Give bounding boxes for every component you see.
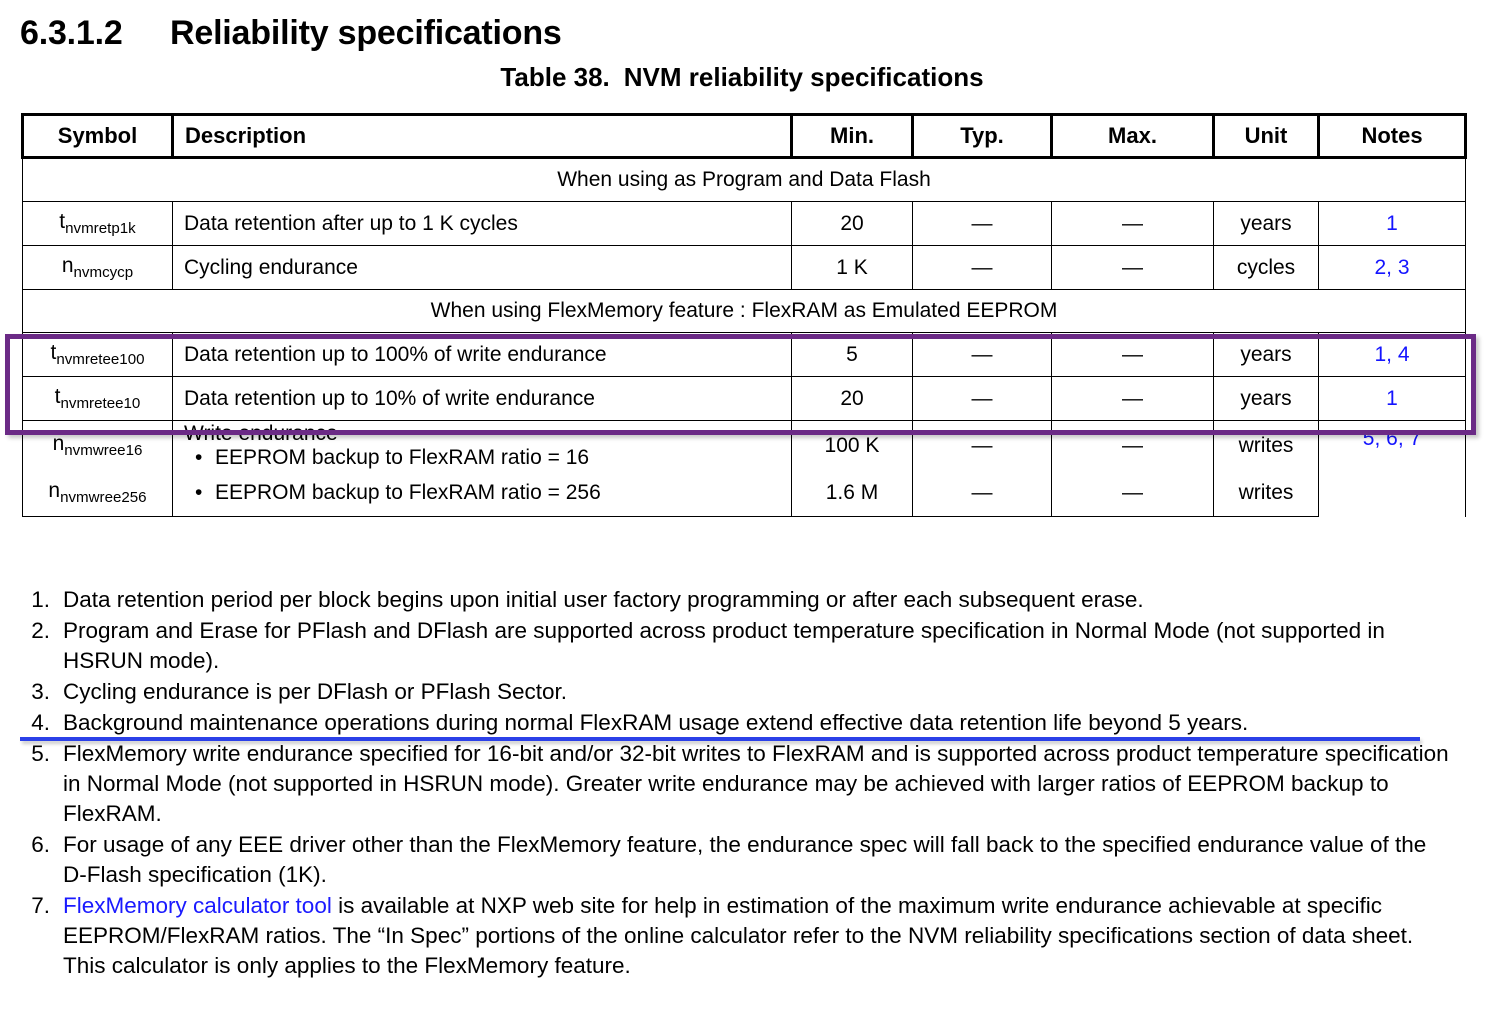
row-min: 20 xyxy=(792,377,913,421)
footnote-text: For usage of any EEE driver other than t… xyxy=(63,832,1426,887)
footnote-number: 2. xyxy=(20,616,50,646)
row-symbol: nnvmcycp xyxy=(23,246,173,290)
row-symbol: nnvmwree16 xyxy=(23,421,173,471)
row-notes[interactable]: 5, 6, 7 xyxy=(1319,421,1466,517)
symbol-subscript: nvmcycp xyxy=(74,264,134,281)
row-typ: — xyxy=(913,377,1052,421)
row-max: — xyxy=(1052,377,1214,421)
footnote-item: 4. Background maintenance operations dur… xyxy=(20,708,1450,738)
flexmemory-calculator-link[interactable]: FlexMemory calculator tool xyxy=(63,893,332,918)
column-header-unit: Unit xyxy=(1214,115,1319,158)
write-endurance-bullet-16: EEPROM backup to FlexRAM ratio = 16 xyxy=(173,446,791,470)
row-min: 1.6 M xyxy=(792,470,913,517)
band-label-program-data-flash: When using as Program and Data Flash xyxy=(23,158,1466,202)
footnote-number: 5. xyxy=(20,739,50,769)
table-band-row-flexmemory: When using FlexMemory feature : FlexRAM … xyxy=(23,290,1466,333)
footnote-number: 3. xyxy=(20,677,50,707)
footnote-item: 7.FlexMemory calculator tool is availabl… xyxy=(20,891,1450,981)
table-caption: Table 38.NVM reliability specifications xyxy=(0,62,1484,93)
section-title: Reliability specifications xyxy=(170,14,562,52)
row-max: — xyxy=(1052,246,1214,290)
footnote-text: Cycling endurance is per DFlash or PFlas… xyxy=(63,679,567,704)
band-label-flexmemory: When using FlexMemory feature : FlexRAM … xyxy=(23,290,1466,333)
nvm-reliability-table: Symbol Description Min. Typ. Max. Unit N… xyxy=(21,113,1467,517)
symbol-base: n xyxy=(48,479,60,502)
table-band-row-program-data-flash: When using as Program and Data Flash xyxy=(23,158,1466,202)
row-symbol: nnvmwree256 xyxy=(23,470,173,517)
footnote-item: 2. Program and Erase for PFlash and DFla… xyxy=(20,616,1450,676)
table-row: tnvmretee10 Data retention up to 10% of … xyxy=(23,377,1466,421)
row-notes[interactable]: 1 xyxy=(1319,202,1466,246)
table-row: tnvmretee100 Data retention up to 100% o… xyxy=(23,333,1466,377)
blue-underline-annotation xyxy=(20,737,1420,741)
row-description: Write endurance EEPROM backup to FlexRAM… xyxy=(173,421,792,471)
symbol-base: n xyxy=(53,432,65,455)
row-unit: writes xyxy=(1214,470,1319,517)
write-endurance-bullet-256: EEPROM backup to FlexRAM ratio = 256 xyxy=(173,481,791,505)
table-row: nnvmcycp Cycling endurance 1 K — — cycle… xyxy=(23,246,1466,290)
row-typ: — xyxy=(913,246,1052,290)
footnote-item: 1. Data retention period per block begin… xyxy=(20,585,1450,615)
row-description: EEPROM backup to FlexRAM ratio = 256 xyxy=(173,470,792,517)
row-notes[interactable]: 2, 3 xyxy=(1319,246,1466,290)
footnote-text: Program and Erase for PFlash and DFlash … xyxy=(63,618,1385,673)
symbol-subscript: nvmwree256 xyxy=(60,490,147,507)
symbol-subscript: nvmwree16 xyxy=(64,442,142,459)
row-unit: cycles xyxy=(1214,246,1319,290)
column-header-max: Max. xyxy=(1052,115,1214,158)
row-min: 20 xyxy=(792,202,913,246)
row-typ: — xyxy=(913,333,1052,377)
row-description: Data retention after up to 1 K cycles xyxy=(173,202,792,246)
row-symbol: tnvmretee100 xyxy=(23,333,173,377)
footnote-text: FlexMemory write endurance specified for… xyxy=(63,741,1449,826)
row-unit: writes xyxy=(1214,421,1319,471)
footnote-item: 5. FlexMemory write endurance specified … xyxy=(20,739,1450,829)
row-description: Cycling endurance xyxy=(173,246,792,290)
table-caption-number: Table 38. xyxy=(500,62,609,92)
footnote-text: Data retention period per block begins u… xyxy=(63,587,1144,612)
row-description: Data retention up to 10% of write endura… xyxy=(173,377,792,421)
row-typ: — xyxy=(913,421,1052,471)
row-unit: years xyxy=(1214,202,1319,246)
row-max: — xyxy=(1052,421,1214,471)
footnote-number: 6. xyxy=(20,830,50,860)
row-max: — xyxy=(1052,333,1214,377)
row-symbol: tnvmretee10 xyxy=(23,377,173,421)
column-header-notes: Notes xyxy=(1319,115,1466,158)
row-min: 5 xyxy=(792,333,913,377)
row-notes[interactable]: 1, 4 xyxy=(1319,333,1466,377)
table-caption-title: NVM reliability specifications xyxy=(624,62,984,92)
symbol-subscript: nvmretp1k xyxy=(65,220,136,237)
row-notes[interactable]: 1 xyxy=(1319,377,1466,421)
footnote-text: Background maintenance operations during… xyxy=(63,710,1248,735)
footnote-number: 7. xyxy=(20,891,50,921)
footnote-list: 1. Data retention period per block begin… xyxy=(20,585,1450,982)
row-description: Data retention up to 100% of write endur… xyxy=(173,333,792,377)
row-symbol: tnvmretp1k xyxy=(23,202,173,246)
column-header-symbol: Symbol xyxy=(23,115,173,158)
symbol-base: n xyxy=(62,254,74,277)
symbol-subscript: nvmretee100 xyxy=(56,351,144,368)
symbol-subscript: nvmretee10 xyxy=(61,395,141,412)
table-row: nnvmwree256 EEPROM backup to FlexRAM rat… xyxy=(23,470,1466,517)
row-typ: — xyxy=(913,470,1052,517)
row-min: 1 K xyxy=(792,246,913,290)
table-row: tnvmretp1k Data retention after up to 1 … xyxy=(23,202,1466,246)
row-min: 100 K xyxy=(792,421,913,471)
row-max: — xyxy=(1052,470,1214,517)
table-header-row: Symbol Description Min. Typ. Max. Unit N… xyxy=(23,115,1466,158)
footnote-item: 3. Cycling endurance is per DFlash or PF… xyxy=(20,677,1450,707)
footnote-number: 4. xyxy=(20,708,50,738)
footnote-item: 6. For usage of any EEE driver other tha… xyxy=(20,830,1450,890)
row-unit: years xyxy=(1214,377,1319,421)
column-header-min: Min. xyxy=(792,115,913,158)
row-unit: years xyxy=(1214,333,1319,377)
write-endurance-label: Write endurance xyxy=(173,422,791,446)
column-header-typ: Typ. xyxy=(913,115,1052,158)
table-row: nnvmwree16 Write endurance EEPROM backup… xyxy=(23,421,1466,471)
row-max: — xyxy=(1052,202,1214,246)
footnote-number: 1. xyxy=(20,585,50,615)
page-title: 6.3.1.2Reliability specifications xyxy=(20,14,562,53)
row-typ: — xyxy=(913,202,1052,246)
section-number: 6.3.1.2 xyxy=(20,14,170,53)
column-header-description: Description xyxy=(173,115,792,158)
